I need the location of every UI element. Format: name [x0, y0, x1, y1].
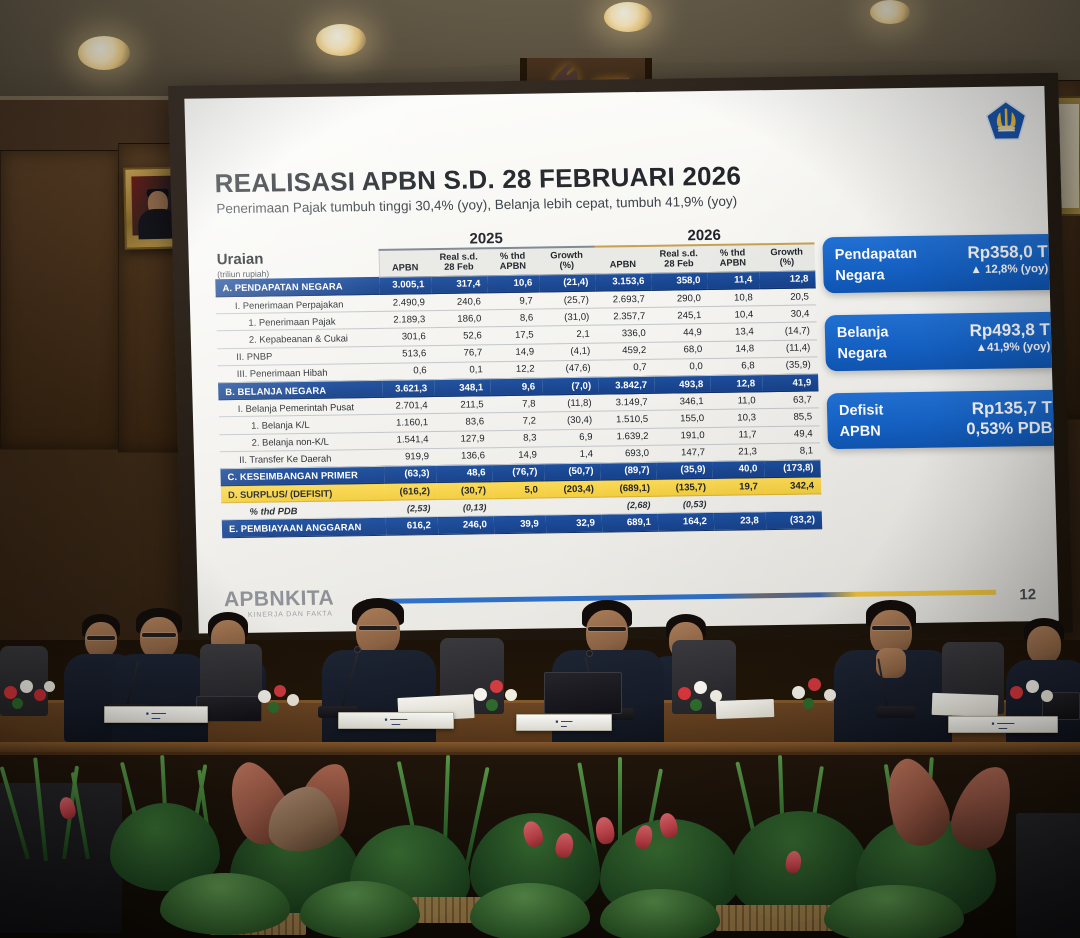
table-cell: 336,0	[597, 325, 654, 343]
table-cell: 11,7	[711, 426, 763, 444]
row-label-text: E. PEMBIAYAAN ANGGARAN	[225, 521, 362, 534]
table-cell: (11,8)	[542, 394, 599, 412]
table-cell: 14,9	[492, 447, 544, 465]
callout-defisit-apbn: Defisit APBN Rp135,7 T 0,53% PDB	[827, 390, 1059, 449]
microphone-base	[876, 706, 916, 718]
table-cell: 1.541,4	[383, 431, 435, 449]
flower-arrangement	[790, 676, 854, 710]
flower	[803, 698, 814, 709]
row-label-text: 1. Penerimaan Pajak	[219, 315, 335, 328]
callout-label-line1: Pendapatan	[835, 246, 918, 263]
table-cell: (76,7)	[492, 464, 544, 482]
table-cell: (203,4)	[545, 480, 602, 498]
table-cell: 21,3	[712, 443, 764, 461]
flower	[486, 699, 498, 711]
callout-value: Rp358,0 T	[967, 241, 1048, 263]
table-cell: 2.189,3	[380, 311, 432, 329]
flower-arrangement	[676, 678, 740, 712]
table-cell: 317,4	[431, 276, 488, 294]
table-cell: 5,0	[493, 481, 545, 499]
table-cell: (33,2)	[766, 511, 823, 529]
flower	[808, 678, 821, 691]
table-cell: 3.621,3	[382, 380, 434, 398]
panelist-head	[1027, 626, 1061, 664]
row-label-text: III. Penerimaan Hibah	[221, 367, 328, 380]
nameplate: ■ ━━━━━━━━	[104, 706, 208, 723]
table-cell: 186,0	[432, 310, 489, 328]
table-cell: 919,9	[384, 448, 436, 466]
table-cell: 301,6	[381, 328, 433, 346]
desk-monitor	[544, 672, 622, 714]
table-cell: 147,7	[656, 444, 713, 462]
table-cell: 1.160,1	[383, 414, 435, 432]
table-cell	[765, 494, 822, 512]
callout-values: Rp493,8 T ▲41,9% (yoy)	[969, 319, 1050, 356]
table-cell: 10,6	[487, 275, 539, 293]
panelist-head	[140, 617, 178, 659]
table-row-label: E. PEMBIAYAAN ANGGARAN	[222, 518, 386, 538]
table-cell: 52,6	[433, 327, 490, 345]
table-cell: 2,1	[540, 326, 597, 344]
table-cell: 211,5	[434, 396, 491, 414]
table-cell: 40,0	[712, 461, 764, 479]
table-cell: 245,1	[652, 307, 709, 325]
table-cell: 513,6	[381, 345, 433, 363]
table-cell: 8,3	[491, 429, 543, 447]
flower	[792, 686, 805, 699]
kemenkeu-logo-icon	[985, 100, 1028, 141]
callout-value: Rp493,8 T	[969, 319, 1050, 341]
flower-arrangement	[254, 682, 318, 716]
panelist-glasses-icon	[359, 626, 397, 630]
ceiling-light	[78, 36, 130, 70]
table-cell: 48,6	[436, 465, 493, 483]
ceiling-light	[316, 24, 366, 56]
flower	[274, 685, 286, 697]
table-cell: 3.005,1	[379, 276, 431, 294]
table-cell: 616,2	[386, 517, 438, 535]
table-cell: 41,9	[762, 374, 819, 392]
desk-front-edge	[0, 742, 1080, 752]
callout-label: Pendapatan Negara	[835, 244, 918, 286]
callout-delta: ▲41,9% (yoy)	[970, 340, 1051, 356]
row-label-text: I. Penerimaan Perpajakan	[219, 298, 344, 311]
table-cell: 689,1	[602, 514, 659, 532]
table-cell: 3.153,6	[595, 273, 652, 291]
table-cell: 2.490,9	[380, 294, 432, 312]
row-label-text: II. Transfer Ke Daerah	[223, 453, 332, 466]
table-cell: (173,8)	[764, 460, 821, 478]
nameplate: ■ ━━━━━━━━━	[338, 712, 454, 729]
callout-values: Rp358,0 T ▲ 12,8% (yoy)	[967, 241, 1048, 278]
table-cell: 693,0	[600, 445, 657, 463]
table-cell: 164,2	[658, 513, 715, 531]
table-cell: 2.701,4	[383, 397, 435, 415]
table-cell: (35,9)	[656, 461, 713, 479]
table-cell: 0,6	[382, 362, 434, 380]
flower	[258, 690, 271, 703]
callout-delta: 0,53% PDB	[966, 418, 1053, 441]
table-cell: (616,2)	[385, 483, 437, 501]
nameplate: ■ ━━━━━━	[516, 714, 612, 731]
table-cell: 0,1	[433, 361, 490, 379]
flower	[678, 687, 691, 700]
callout-delta: ▲ 12,8% (yoy)	[968, 262, 1049, 278]
table-cell: 358,0	[651, 272, 708, 290]
table-cell: 0,0	[653, 358, 710, 376]
table-cell: 12,2	[490, 361, 542, 379]
flower	[4, 686, 17, 699]
table-cell: 17,5	[489, 326, 541, 344]
callout-values: Rp135,7 T 0,53% PDB	[966, 397, 1053, 441]
flower-arrangement	[0, 676, 64, 710]
flower	[1026, 680, 1039, 693]
bamboo-fence	[716, 905, 836, 931]
table-cell: 342,4	[765, 477, 822, 495]
wall-panel	[0, 150, 120, 450]
nameplate-text: ■ ━━━━━━━━━	[339, 713, 453, 728]
table-cell: 39,9	[494, 515, 546, 533]
table-cell: 11,4	[707, 272, 759, 290]
table-cell: 6,9	[543, 429, 600, 447]
flower	[34, 689, 46, 701]
callout-belanja-negara: Belanja Negara Rp493,8 T ▲41,9% (yoy)	[824, 312, 1058, 371]
flower	[44, 681, 55, 692]
table-cell: 1,4	[544, 446, 601, 464]
table-cell: 14,8	[709, 340, 761, 358]
table-cell: 3.842,7	[598, 376, 655, 394]
panelist-glasses-icon	[87, 636, 115, 640]
panelist-glasses-icon	[142, 633, 176, 637]
table-cell: 13,4	[709, 323, 761, 341]
table-cell: 85,5	[763, 408, 820, 426]
microphone-head-icon	[354, 646, 361, 653]
col-head-apbn-2026: APBN	[594, 246, 651, 274]
table-cell: 76,7	[433, 344, 490, 362]
table-cell: (0,53)	[657, 496, 714, 514]
table-cell: 8,6	[488, 309, 540, 327]
table-cell: (11,4)	[761, 339, 818, 357]
ceiling-light	[604, 2, 652, 32]
desk-papers	[932, 693, 999, 717]
table-cell: 8,1	[764, 443, 821, 461]
table-cell: 246,0	[438, 516, 495, 534]
table-cell: (689,1)	[601, 479, 658, 497]
table-cell: 30,4	[760, 305, 817, 323]
col-head-real-2025: Real s.d.28 Feb	[430, 248, 487, 276]
table-cell: (2,68)	[601, 497, 658, 515]
flower-arrangement	[472, 678, 536, 712]
table-cell: (25,7)	[540, 291, 597, 309]
table-cell: 136,6	[436, 447, 493, 465]
callout-label-line2: APBN	[839, 423, 881, 440]
table-cell	[713, 495, 765, 513]
nameplate-text: ■ ━━━━━━━━	[105, 707, 207, 722]
table-cell: 14,9	[489, 344, 541, 362]
row-label-text: D. SURPLUS/ (DEFISIT)	[224, 487, 332, 500]
table-cell: 6,8	[710, 357, 762, 375]
panelist-glasses-icon	[588, 627, 626, 631]
row-label-text: 1. Belanja K/L	[222, 419, 310, 431]
table-cell: (135,7)	[657, 478, 714, 496]
table-cell: 10,8	[708, 289, 760, 307]
conference-room-photo: 🦅	[0, 0, 1080, 938]
table-cell: 20,5	[760, 288, 817, 306]
table-cell: 12,8	[759, 271, 816, 289]
table-cell: 493,8	[654, 375, 711, 393]
flower	[694, 681, 707, 694]
flower	[20, 680, 33, 693]
callout-label-line1: Defisit	[839, 402, 884, 419]
table-cell: 2.693,7	[596, 290, 653, 308]
callout-label-line2: Negara	[837, 345, 887, 362]
table-cell: (30,7)	[437, 482, 494, 500]
slide-title: REALISASI APBN S.D. 28 FEBRUARI 2026	[214, 161, 741, 200]
table-cell: 32,9	[546, 515, 603, 533]
table-cell: (7,0)	[542, 377, 599, 395]
microphone-head-icon	[586, 650, 593, 657]
table-cell	[545, 497, 602, 515]
row-label-text: I. Belanja Pemerintah Pusat	[222, 401, 355, 414]
nameplate: ■ ━━━━━━━━━	[948, 716, 1058, 733]
table-cell: 12,8	[710, 375, 762, 393]
col-head-growth-2025: Growth(%)	[538, 247, 595, 275]
table-cell: 2.357,7	[596, 308, 653, 326]
table-cell: 127,9	[435, 430, 492, 448]
table-cell: 19,7	[713, 478, 765, 496]
col-head-apbn-2025: APBN	[379, 249, 432, 277]
flower-arrangement	[1008, 678, 1072, 712]
projection-screen: REALISASI APBN S.D. 28 FEBRUARI 2026 Pen…	[168, 73, 1073, 646]
planter-box	[1016, 813, 1080, 938]
callout-label-line1: Belanja	[837, 324, 889, 341]
table-cell: 1.510,5	[599, 411, 656, 429]
table-cell: (0,13)	[437, 499, 494, 517]
table-cell: 7,2	[491, 412, 543, 430]
row-label-text: 2. Kepabeanan & Cukai	[220, 332, 348, 345]
table-cell: 44,9	[653, 324, 710, 342]
table-cell: (31,0)	[540, 308, 597, 326]
callout-value: Rp135,7 T	[966, 397, 1053, 420]
table-cell: 0,7	[597, 359, 654, 377]
table-cell: 9,7	[488, 292, 540, 310]
table-cell: (4,1)	[541, 343, 598, 361]
table-cell: (47,6)	[541, 360, 598, 378]
table-cell: 10,3	[711, 409, 763, 427]
flower	[12, 698, 23, 709]
table-cell: 10,4	[708, 306, 760, 324]
table-cell: (89,7)	[600, 462, 657, 480]
callout-label-line2: Negara	[835, 267, 885, 284]
flower	[1041, 690, 1053, 702]
plant-flower	[594, 816, 616, 845]
screen-bezel: REALISASI APBN S.D. 28 FEBRUARI 2026 Pen…	[168, 73, 1073, 646]
foreground-plants	[0, 755, 1080, 938]
flower	[287, 694, 299, 706]
slide-page-number: 12	[1019, 586, 1036, 603]
table-cell: 83,6	[435, 413, 492, 431]
panelist-glasses-icon	[872, 626, 910, 630]
presentation-slide: REALISASI APBN S.D. 28 FEBRUARI 2026 Pen…	[184, 86, 1058, 634]
uraian-header-cell: Uraian (triliun rupiah)	[214, 231, 379, 280]
row-label-text: A. PENDAPATAN NEGARA	[218, 281, 343, 294]
flower	[1010, 686, 1023, 699]
row-label-text: 2. Belanja non-K/L	[223, 436, 329, 449]
flower	[710, 690, 722, 702]
table-cell: 191,0	[655, 427, 712, 445]
table-cell: 348,1	[434, 379, 491, 397]
col-head-pct-2025: % thdAPBN	[486, 248, 539, 276]
apbnkita-logo: APBNKITA KINERJA DAN FAKTA	[224, 587, 357, 619]
table-cell	[493, 498, 545, 516]
nameplate-text: ■ ━━━━━━	[517, 715, 611, 730]
callout-pendapatan-negara: Pendapatan Negara Rp358,0 T ▲ 12,8% (yoy…	[822, 234, 1058, 293]
flower	[505, 689, 517, 701]
row-label-text: II. PNBP	[220, 351, 272, 363]
panelist-head	[85, 622, 117, 658]
table-cell: 346,1	[654, 393, 711, 411]
table-cell: 290,0	[652, 290, 709, 308]
row-label-text: B. BELANJA NEGARA	[221, 384, 326, 397]
table-cell: 240,6	[432, 293, 489, 311]
flower	[824, 689, 836, 701]
apbnkita-wordmark: APBNKITA	[224, 587, 357, 610]
table-cell: (14,7)	[760, 322, 817, 340]
table-cell: 155,0	[655, 410, 712, 428]
uraian-title: Uraian	[216, 249, 378, 268]
table-cell: 63,7	[762, 391, 819, 409]
flower	[268, 702, 279, 713]
flower	[490, 680, 503, 693]
nameplate-text: ■ ━━━━━━━━━	[949, 717, 1057, 732]
table-cell: (50,7)	[544, 463, 601, 481]
flower	[474, 688, 487, 701]
table-cell: 7,8	[490, 395, 542, 413]
callout-label: Defisit APBN	[839, 400, 884, 442]
table-cell: 49,4	[763, 425, 820, 443]
apbn-table-wrapper: Uraian (triliun rupiah) 2025 2026 APBN R…	[214, 224, 822, 537]
panelist-head	[356, 608, 400, 656]
table-cell: (2,53)	[385, 500, 437, 518]
col-head-real-2026: Real s.d.28 Feb	[650, 245, 707, 273]
apbn-table-body: A. PENDAPATAN NEGARA3.005,1317,410,6(21,…	[215, 271, 822, 538]
table-cell: (30,4)	[543, 411, 600, 429]
table-cell: (35,9)	[761, 357, 818, 375]
callout-label: Belanja Negara	[837, 322, 890, 364]
table-cell: 459,2	[597, 342, 654, 360]
table-cell: 9,6	[490, 378, 542, 396]
table-cell: 3.149,7	[598, 393, 655, 411]
flower	[690, 699, 702, 711]
row-label-text: % thd PDB	[233, 505, 297, 517]
table-cell: 1.639,2	[599, 428, 656, 446]
table-cell: (21,4)	[539, 274, 596, 292]
row-label-text: C. KESEIMBANGAN PRIMER	[223, 470, 358, 483]
table-cell: 23,8	[714, 512, 766, 530]
col-head-growth-2026: Growth(%)	[758, 243, 815, 271]
col-head-pct-2026: % thdAPBN	[706, 244, 759, 272]
apbn-realization-table: Uraian (triliun rupiah) 2025 2026 APBN R…	[214, 224, 822, 537]
table-cell: (63,3)	[384, 465, 436, 483]
table-cell: 11,0	[710, 392, 762, 410]
table-cell: 68,0	[653, 341, 710, 359]
ceiling-light	[870, 0, 910, 24]
